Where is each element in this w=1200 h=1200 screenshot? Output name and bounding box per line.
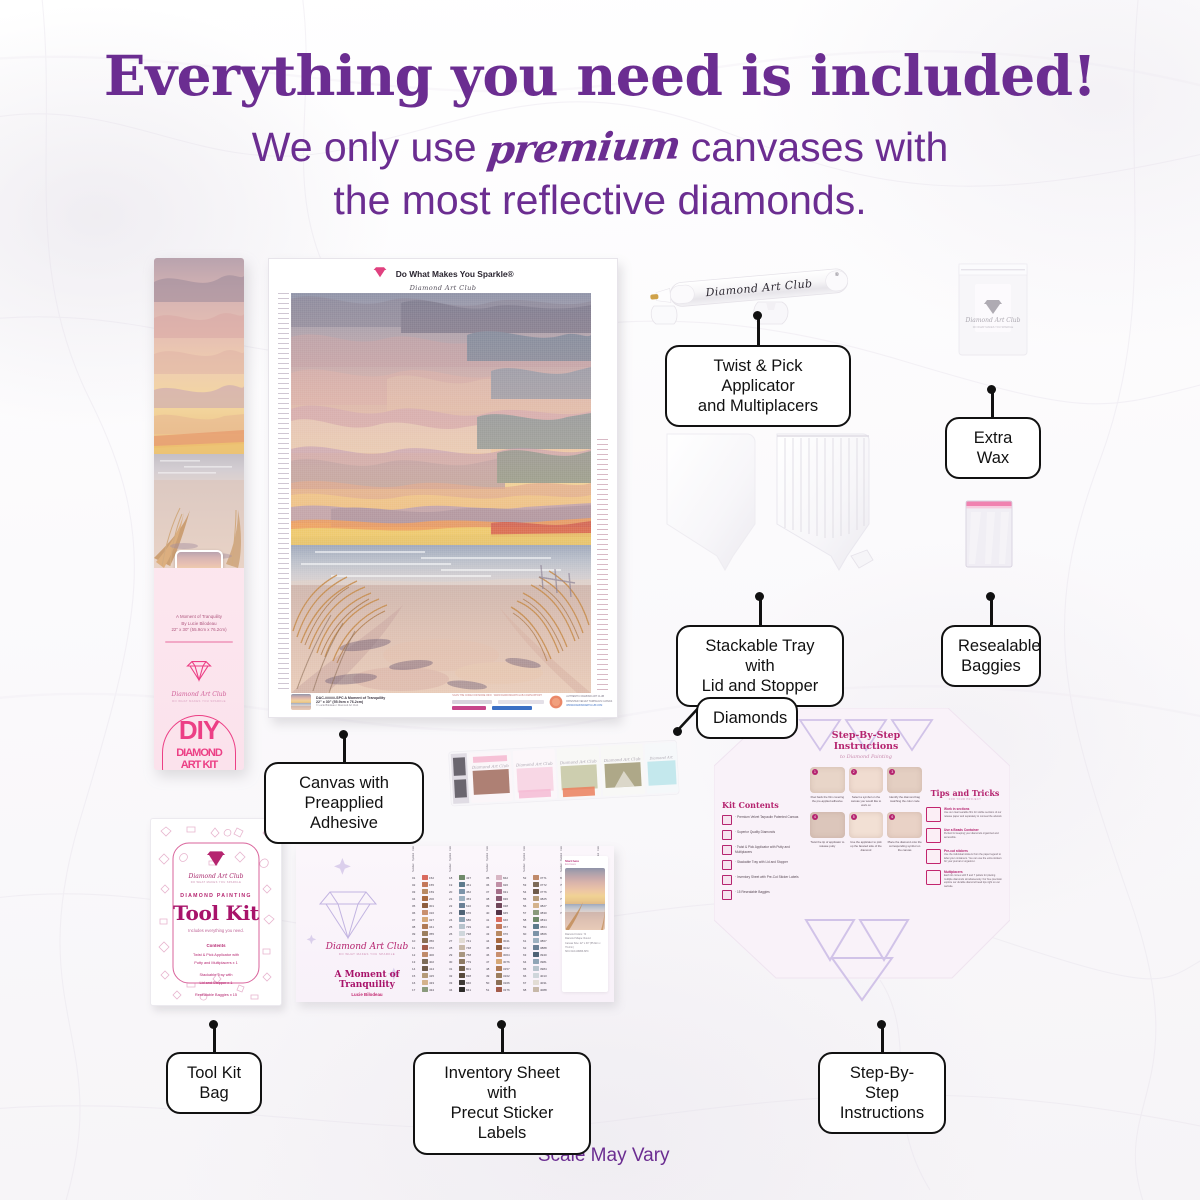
kit-content-label: · Inventory Sheet with Pre-Cut Sticker L… bbox=[735, 875, 799, 880]
inventory-row: 31801 bbox=[449, 965, 477, 972]
tool-kit-bag: Diamond Art Club DO WHAT MAKES YOU SPARK… bbox=[150, 818, 282, 1006]
twist-pick-applicator: Diamond Art Club ® bbox=[648, 262, 863, 332]
tool-kit-brand-sub: DO WHAT MAKES YOU SPARKLE bbox=[173, 881, 259, 884]
tool-kit-content-item: Lid and Stopper x 1 bbox=[173, 980, 259, 988]
step-number: 5 bbox=[851, 814, 857, 820]
kit-content-item: · Inventory Sheet with Pre-Cut Sticker L… bbox=[722, 875, 800, 885]
inventory-row: 593864 bbox=[523, 923, 551, 930]
leader-line-stackable-tray bbox=[759, 597, 762, 626]
stackable-tray bbox=[777, 434, 869, 570]
subheadline-line3: the most reflective diamonds. bbox=[0, 174, 1200, 226]
callout-tool-kit-bag[interactable]: Tool Kit Bag bbox=[166, 1052, 262, 1114]
canvas-footer-notes: SCAN THE CODE FOR MORE INFO WWW.DIAMONDA… bbox=[390, 694, 544, 710]
canvas-brand-script: Diamond Art Club bbox=[269, 284, 617, 292]
inventory-row: 563827 bbox=[523, 902, 551, 909]
step-photo: 2 bbox=[849, 767, 884, 793]
leader-dot-applicator bbox=[753, 311, 762, 320]
canvas-tagline: Do What Makes You Sparkle® bbox=[396, 269, 514, 279]
kit-content-icon bbox=[722, 860, 732, 870]
svg-text:Diamond Art Club: Diamond Art Club bbox=[965, 317, 1021, 324]
leader-dot-stackable-tray bbox=[755, 592, 764, 601]
thumbnail-art bbox=[565, 868, 605, 930]
diy-kit-box: A Moment of Tranquility By Lucie Bilodea… bbox=[154, 258, 244, 770]
kit-content-icon bbox=[722, 875, 732, 885]
tip-item: Pre-cut stickersUse the individual stick… bbox=[926, 849, 1004, 864]
instruction-step: 6Place the diamond onto the correspondin… bbox=[887, 812, 922, 853]
tip-text: Work in sectionsUse our clear tearable f… bbox=[944, 807, 1004, 822]
inventory-row: 21453 bbox=[449, 895, 477, 902]
leader-line-tool-kit-bag bbox=[213, 1025, 216, 1053]
step-caption: Use the applicator to pick up the facete… bbox=[849, 840, 884, 853]
inventory-row: 503166 bbox=[486, 979, 514, 986]
callout-resealable-baggies[interactable]: Resealable Baggies bbox=[941, 625, 1041, 687]
leader-dot-instructions bbox=[877, 1020, 886, 1029]
inventory-row: 41946 bbox=[486, 916, 514, 923]
inventory-row: 573830 bbox=[523, 909, 551, 916]
step-caption: Identify the diamond bag matching the co… bbox=[887, 795, 922, 803]
inventory-brand-script: Diamond Art Club bbox=[312, 942, 422, 952]
inventory-row: 17434 bbox=[412, 986, 440, 993]
callout-tool-kit-bag-label: Tool Kit Bag bbox=[166, 1052, 262, 1114]
diamond-glyph bbox=[372, 266, 388, 278]
instruction-step: 3Identify the diamond bag matching the c… bbox=[887, 767, 922, 808]
inventory-column: NumberSymbolColor52377153377254377655382… bbox=[523, 854, 551, 993]
subheadline: We only use premium canvases with the mo… bbox=[0, 121, 1200, 226]
inventory-row: 664013 bbox=[523, 972, 551, 979]
tray-stopper bbox=[851, 550, 873, 568]
tool-kit-subtitle: Includes everything you need. bbox=[173, 928, 259, 933]
inventory-row: 18437 bbox=[449, 874, 477, 881]
step-number: 6 bbox=[889, 814, 895, 820]
inventory-row: 42967 bbox=[486, 923, 514, 930]
diy-box-brand-sub: DO WHAT MAKES YOU SPARKLE bbox=[159, 699, 239, 703]
callout-instructions-label: Step-By-Step Instructions bbox=[818, 1052, 946, 1134]
inventory-row: 463064 bbox=[486, 951, 514, 958]
inventory-row: 12400 bbox=[412, 951, 440, 958]
tray-and-lid bbox=[655, 428, 880, 588]
tip-icon bbox=[926, 870, 941, 885]
inventory-column: NumberSymbolColor35842369263793138936399… bbox=[486, 854, 514, 993]
inventory-row: 24680 bbox=[449, 916, 477, 923]
inventory-row: 533772 bbox=[523, 881, 551, 888]
leader-dot-inventory-sheet bbox=[497, 1020, 506, 1029]
inventory-row: 674031 bbox=[523, 979, 551, 986]
step-number: 3 bbox=[889, 769, 895, 775]
tip-body: Use the individual stickers from the pap… bbox=[944, 853, 1004, 864]
tool-kit-contents-list: Twist & Pick Applicator with Putty and M… bbox=[173, 952, 259, 1000]
canvas-sheet: Do What Makes You Sparkle® Diamond Art C… bbox=[268, 258, 618, 718]
inventory-artwork-thumb bbox=[565, 868, 605, 930]
inventory-row: 06316 bbox=[412, 909, 440, 916]
diamond-icon bbox=[184, 659, 214, 683]
kit-content-item: · 15 Resealable Baggies bbox=[722, 890, 800, 900]
page-title: Everything you need is included! bbox=[0, 48, 1200, 103]
leader-dot-extra-wax bbox=[987, 385, 996, 394]
inventory-row: 633940 bbox=[523, 951, 551, 958]
diy-box-brand-script: Diamond Art Club bbox=[159, 691, 239, 698]
inventory-sheet: Diamond Art Club DO WHAT MAKES YOU SPARK… bbox=[296, 846, 614, 1002]
tool-kit-brand-script: Diamond Art Club bbox=[173, 873, 259, 880]
inventory-row: 02155 bbox=[412, 881, 440, 888]
tip-item: Work in sectionsUse our clear tearable f… bbox=[926, 807, 1004, 822]
callout-inventory-sheet[interactable]: Inventory Sheet with Precut Sticker Labe… bbox=[413, 1052, 591, 1155]
canvas-sku-block: DAC-#####-SPC A Moment of Tranquility 22… bbox=[316, 696, 385, 707]
tray-lid bbox=[667, 434, 755, 570]
kit-contents-heading: Kit Contents bbox=[722, 800, 800, 810]
diy-box-badge: DIY DIAMOND ART KIT ROUND DIAMONDS bbox=[162, 715, 236, 770]
inventory-row: 583834 bbox=[523, 916, 551, 923]
swatch-caption-4: SKU DAC-#####-SPC bbox=[565, 950, 605, 954]
inventory-row: 603866 bbox=[523, 930, 551, 937]
kit-contents-list: · Premium Velvet Tarpaulin Patented Canv… bbox=[722, 815, 800, 900]
inventory-row: 493162 bbox=[486, 972, 514, 979]
step-number: 4 bbox=[812, 814, 818, 820]
callout-stackable-tray[interactable]: Stackable Tray with Lid and Stopper bbox=[676, 625, 844, 707]
tips-subheading: FOR YOUR PROJECT bbox=[926, 798, 1004, 801]
kit-content-icon bbox=[722, 830, 732, 840]
leader-line-resealable-baggies bbox=[990, 597, 993, 626]
leader-dot-tool-kit-bag bbox=[209, 1020, 218, 1029]
thumbnail-art bbox=[291, 694, 311, 710]
inventory-row: 473076 bbox=[486, 958, 514, 965]
leader-line-instructions bbox=[881, 1025, 884, 1053]
tips-block: Tips and Tricks FOR YOUR PROJECT Work in… bbox=[926, 788, 1004, 895]
canvas-footer: DAC-#####-SPC A Moment of Tranquility 22… bbox=[291, 694, 597, 710]
tip-icon bbox=[926, 807, 941, 822]
diamond-icon bbox=[372, 265, 388, 283]
inventory-row: 28748 bbox=[449, 944, 477, 951]
kit-content-item: · Superior Quality Diamonds bbox=[722, 830, 800, 840]
inventory-row: 34841 bbox=[449, 986, 477, 993]
inventory-row: 40945 bbox=[486, 909, 514, 916]
inventory-row: 483157 bbox=[486, 965, 514, 972]
premium-script-word: premium bbox=[484, 122, 683, 177]
inventory-row: 613867 bbox=[523, 937, 551, 944]
instructions-title: Step-By-Step Instructions bbox=[810, 730, 922, 752]
inventory-row: 14414 bbox=[412, 965, 440, 972]
tool-kit-content-item: Stackable Tray with bbox=[173, 972, 259, 980]
inventory-artist: Lucie Bilodeau bbox=[312, 992, 422, 997]
inventory-row: 09355 bbox=[412, 930, 440, 937]
inventory-row: 623888 bbox=[523, 944, 551, 951]
callout-canvas-label: Canvas with Preapplied Adhesive bbox=[264, 762, 424, 844]
inventory-column: NumberSymbolColor18437194512045221453226… bbox=[449, 854, 477, 993]
canvas-ruler-right bbox=[597, 439, 608, 693]
callout-canvas[interactable]: Canvas with Preapplied Adhesive bbox=[264, 762, 424, 844]
inventory-row: 453042 bbox=[486, 944, 514, 951]
steps-grid: 1Peel back the film covering the pre-app… bbox=[810, 767, 922, 852]
extra-wax-pouch: Diamond Art Club DO WHAT MAKES YOU SPARK… bbox=[957, 262, 1029, 357]
steps-block: Step-By-Step Instructions to Diamond Pai… bbox=[810, 730, 922, 852]
inventory-row: 38936 bbox=[486, 895, 514, 902]
instruction-step: 2Select a symbol on the canvas you would… bbox=[849, 767, 884, 808]
instructions-subtitle: to Diamond Painting bbox=[810, 754, 922, 760]
diy-box-thumbnail bbox=[175, 550, 223, 568]
inventory-row: 10356 bbox=[412, 937, 440, 944]
tip-item: MultiplacersEach kit comes with 5 and 7 … bbox=[926, 870, 1004, 889]
diy-box-artwork bbox=[154, 258, 244, 568]
inventory-row: 03159 bbox=[412, 888, 440, 895]
inventory-row: 15415 bbox=[412, 972, 440, 979]
tip-body: Each kit comes with 5 and 7 pellets for … bbox=[944, 874, 1004, 889]
kit-content-icon bbox=[722, 890, 732, 900]
step-photo: 4 bbox=[810, 812, 845, 838]
callout-applicator-label: Twist & Pick Applicator and Multiplacers bbox=[665, 345, 851, 427]
tip-text: Pre-cut stickersUse the individual stick… bbox=[944, 849, 1004, 864]
tool-kit-content-item: Resealable Baggies x 15 bbox=[173, 992, 259, 1000]
kit-content-icon bbox=[722, 815, 732, 825]
callout-stackable-tray-label: Stackable Tray with Lid and Stopper bbox=[676, 625, 844, 707]
tips-list: Work in sectionsUse our clear tearable f… bbox=[926, 807, 1004, 889]
diy-box-art-title: A Moment of Tranquility bbox=[159, 614, 239, 621]
thumbnail-art bbox=[177, 552, 221, 568]
step-number: 1 bbox=[812, 769, 818, 775]
tip-body: Perfect for keeping your diamonds organi… bbox=[944, 832, 1004, 839]
seal-icon bbox=[549, 695, 563, 709]
tool-kit-logo bbox=[173, 850, 259, 872]
inventory-row: 22610 bbox=[449, 902, 477, 909]
inventory-row: 16433 bbox=[412, 979, 440, 986]
leader-line-applicator bbox=[757, 316, 760, 346]
kit-content-item: · Twist & Pick Applicator with Putty and… bbox=[722, 845, 800, 855]
diy-box-art-byline: By Lucie Bilodeau bbox=[159, 621, 239, 628]
inventory-row: 43976 bbox=[486, 930, 514, 937]
inventory-row: 36926 bbox=[486, 881, 514, 888]
wax-pouch: Diamond Art Club DO WHAT MAKES YOU SPARK… bbox=[957, 262, 1029, 357]
inventory-row: 05301 bbox=[412, 902, 440, 909]
inventory-brand-sub: DO WHAT MAKES YOU SPARKLE bbox=[312, 952, 422, 956]
inventory-row: 13402 bbox=[412, 958, 440, 965]
inventory-row: 19451 bbox=[449, 881, 477, 888]
kit-content-icon bbox=[722, 845, 732, 855]
infographic-canvas: Everything you need is included! We only… bbox=[0, 0, 1200, 1200]
inventory-row: 543776 bbox=[523, 888, 551, 895]
multiplacer-tip-small bbox=[651, 306, 677, 324]
inventory-row: 01152 bbox=[412, 874, 440, 881]
inventory-row: 23676 bbox=[449, 909, 477, 916]
tips-heading: Tips and Tricks bbox=[926, 788, 1004, 798]
tip-item: Use a Beads ContainerPerfect for keeping… bbox=[926, 828, 1004, 843]
resealable-baggie bbox=[963, 498, 1015, 570]
inventory-thumbnail-card: Start here End Here Diamond Colors: 74 D… bbox=[562, 856, 608, 992]
callout-extra-wax-label: Extra Wax bbox=[945, 417, 1041, 479]
tip-text: MultiplacersEach kit comes with 5 and 7 … bbox=[944, 870, 1004, 889]
inventory-row: 11372 bbox=[412, 944, 440, 951]
kit-content-label: · 15 Resealable Baggies bbox=[735, 890, 770, 895]
callout-inventory-sheet-label: Inventory Sheet with Precut Sticker Labe… bbox=[413, 1052, 591, 1155]
step-photo: 6 bbox=[887, 812, 922, 838]
instruction-step: 1Peel back the film covering the pre-app… bbox=[810, 767, 845, 808]
inventory-row: 443041 bbox=[486, 937, 514, 944]
sunset-art-strip bbox=[154, 258, 244, 568]
scale-footnote: *Scale May Vary bbox=[0, 1145, 1200, 1167]
leader-line-inventory-sheet bbox=[501, 1025, 504, 1053]
canvas-footer-thumbnail bbox=[291, 694, 311, 710]
inventory-title: A Moment of Tranquility bbox=[312, 970, 422, 990]
stackable-tray-set bbox=[655, 428, 880, 588]
inventory-row: 39938 bbox=[486, 902, 514, 909]
canvas-footer-seal: AUTHENTIC DIAMOND ART CLUBPATENTED VELVE… bbox=[549, 695, 612, 709]
swatch-caption-3: Canvas Size: 22" x 30" (55.9cm x 76.2cm) bbox=[565, 942, 605, 951]
step-photo: 5 bbox=[849, 812, 884, 838]
inventory-column: NumberSymbolColor01152021550315904200053… bbox=[412, 854, 440, 993]
sunset-beach-painting bbox=[291, 293, 591, 693]
inventory-row: 25729 bbox=[449, 923, 477, 930]
kit-content-item: · Premium Velvet Tarpaulin Patented Canv… bbox=[722, 815, 800, 825]
step-photo: 1 bbox=[810, 767, 845, 793]
applicator-pen: Diamond Art Club ® bbox=[648, 262, 863, 332]
tool-kit-content-item: Twist & Pick Applicator with bbox=[173, 952, 259, 960]
diamond-bags: Diamond Art Club Diamond Art Club Diamon… bbox=[446, 740, 686, 812]
leader-dot-canvas bbox=[339, 730, 348, 739]
inventory-row: 37931 bbox=[486, 888, 514, 895]
tool-kit-contents-heading: Contents bbox=[173, 943, 259, 948]
inventory-row: 26738 bbox=[449, 930, 477, 937]
inventory-brand-block: Diamond Art Club DO WHAT MAKES YOU SPARK… bbox=[312, 942, 422, 997]
callout-extra-wax[interactable]: Extra Wax bbox=[945, 417, 1041, 479]
headline-block: Everything you need is included! We only… bbox=[0, 0, 1200, 226]
callout-instructions[interactable]: Step-By-Step Instructions bbox=[818, 1052, 946, 1134]
kit-content-label: · Twist & Pick Applicator with Putty and… bbox=[735, 845, 800, 855]
instruction-step: 5Use the applicator to pick up the facet… bbox=[849, 812, 884, 853]
step-caption: Place the diamond onto the corresponding… bbox=[887, 840, 922, 853]
tip-icon bbox=[926, 828, 941, 843]
step-photo: 3 bbox=[887, 767, 922, 793]
instructions-sheet: Kit Contents · Premium Velvet Tarpaulin … bbox=[714, 708, 1010, 1002]
inventory-row: 32838 bbox=[449, 972, 477, 979]
instruction-step: 4Twist the tip of applicator to release … bbox=[810, 812, 845, 853]
canvas-header: Do What Makes You Sparkle® Diamond Art C… bbox=[269, 259, 617, 292]
diamond-bags-strip: Diamond Art Club Diamond Art Club Diamon… bbox=[446, 740, 686, 812]
step-caption: Twist the tip of applicator to release p… bbox=[810, 840, 845, 848]
leader-line-extra-wax bbox=[991, 390, 994, 418]
inventory-row: 30779 bbox=[449, 958, 477, 965]
tool-kit-content-item: Putty and Multiplacers x 1 bbox=[173, 960, 259, 968]
tip-text: Use a Beads ContainerPerfect for keeping… bbox=[944, 828, 1004, 843]
step-caption: Select a symbol on the canvas you would … bbox=[849, 795, 884, 808]
canvas-artwork bbox=[291, 293, 591, 693]
inventory-row: 20452 bbox=[449, 888, 477, 895]
inventory-row: 29758 bbox=[449, 951, 477, 958]
subheadline-part2: canvases with bbox=[691, 124, 949, 170]
kit-content-label: · Stackable Tray with Lid and Stopper bbox=[735, 860, 788, 865]
baggie bbox=[963, 498, 1015, 570]
inventory-row: 513176 bbox=[486, 986, 514, 993]
tool-kit-eyebrow: DIAMOND PAINTING bbox=[173, 893, 259, 899]
kit-content-label: · Premium Velvet Tarpaulin Patented Canv… bbox=[735, 815, 798, 820]
inventory-row: 653984 bbox=[523, 965, 551, 972]
callout-diamonds-label: Diamonds bbox=[696, 697, 798, 739]
diamond-outline-icon bbox=[320, 892, 376, 938]
inventory-row: 33840 bbox=[449, 979, 477, 986]
callout-resealable-baggies-label: Resealable Baggies bbox=[941, 625, 1041, 687]
kit-content-label: · Superior Quality Diamonds bbox=[735, 830, 775, 835]
canvas-ruler-left bbox=[278, 293, 289, 693]
inventory-row: 07327 bbox=[412, 916, 440, 923]
inventory-row: 04200 bbox=[412, 895, 440, 902]
subheadline-part1: We only use bbox=[252, 124, 477, 170]
diy-box-logo bbox=[159, 659, 239, 688]
kit-contents-block: Kit Contents · Premium Velvet Tarpaulin … bbox=[722, 800, 800, 905]
callout-diamonds[interactable]: Diamonds bbox=[696, 697, 798, 739]
inventory-row: 08341 bbox=[412, 923, 440, 930]
tool-kit-title: Tool Kit bbox=[173, 901, 259, 925]
canvas-artist-line: © Lucie Bilodeau / Diamond Art Club bbox=[316, 704, 385, 707]
inventory-row: 523771 bbox=[523, 874, 551, 881]
leader-line-canvas bbox=[343, 735, 346, 763]
inventory-row: 27741 bbox=[449, 937, 477, 944]
diamond-icon bbox=[205, 850, 227, 867]
inventory-row: 684088 bbox=[523, 986, 551, 993]
step-number: 2 bbox=[851, 769, 857, 775]
leader-dot-resealable-baggies bbox=[986, 592, 995, 601]
diy-box-art-size: 22" x 30" (55.9cm x 76.2cm) bbox=[159, 627, 239, 634]
step-caption: Peel back the film covering the pre-appl… bbox=[810, 795, 845, 803]
tip-icon bbox=[926, 849, 941, 864]
inventory-row: 35842 bbox=[486, 874, 514, 881]
kit-content-item: · Stackable Tray with Lid and Stopper bbox=[722, 860, 800, 870]
tip-body: Use our clear tearable film for visible … bbox=[944, 811, 1004, 818]
svg-text:DO WHAT MAKES YOU SPARKLE: DO WHAT MAKES YOU SPARKLE bbox=[973, 325, 1014, 329]
inventory-row: 553825 bbox=[523, 895, 551, 902]
inventory-row: 643981 bbox=[523, 958, 551, 965]
leader-dot-diamonds bbox=[673, 727, 682, 736]
diy-box-divider bbox=[165, 641, 233, 643]
callout-applicator[interactable]: Twist & Pick Applicator and Multiplacers bbox=[665, 345, 851, 427]
